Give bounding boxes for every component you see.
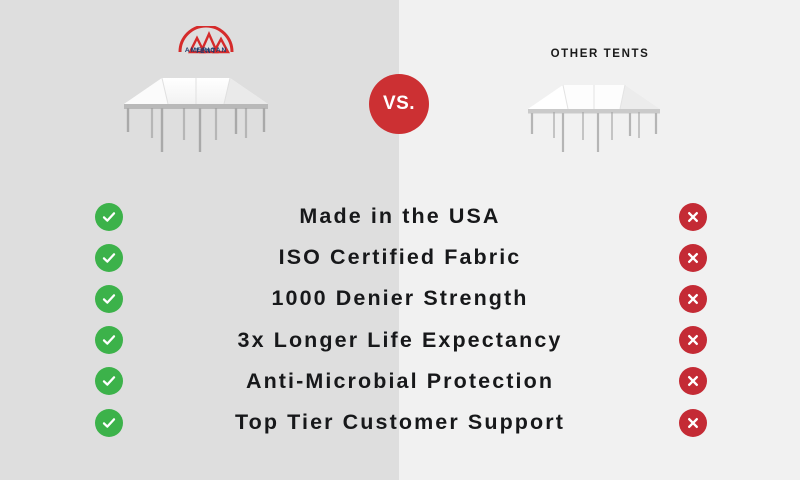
comparison-row-label: Made in the USA bbox=[140, 204, 660, 229]
check-circle-icon bbox=[95, 367, 123, 395]
comparison-row: Made in the USA bbox=[0, 196, 800, 237]
x-circle-icon bbox=[679, 409, 707, 437]
comparison-row: 3x Longer Life Expectancy bbox=[0, 320, 800, 361]
comparison-row: 1000 Denier Strength bbox=[0, 278, 800, 319]
check-circle-icon bbox=[95, 203, 123, 231]
comparison-row: Anti-Microbial Protection bbox=[0, 361, 800, 402]
x-circle-icon bbox=[679, 285, 707, 313]
x-circle-icon bbox=[679, 326, 707, 354]
comparison-row-label: ISO Certified Fabric bbox=[140, 245, 660, 270]
x-circle-icon bbox=[679, 203, 707, 231]
comparison-row-label: 1000 Denier Strength bbox=[140, 286, 660, 311]
comparison-row-label: 3x Longer Life Expectancy bbox=[140, 328, 660, 353]
comparison-row-label: Anti-Microbial Protection bbox=[140, 369, 660, 394]
check-circle-icon bbox=[95, 409, 123, 437]
comparison-infographic: AMERICAN TENT OTHER TENTS VS. Made in bbox=[0, 0, 800, 480]
comparison-row: Top Tier Customer Support bbox=[0, 402, 800, 443]
versus-badge: VS. bbox=[369, 74, 429, 134]
other-tents-label: OTHER TENTS bbox=[500, 48, 700, 60]
other-tent-illustration bbox=[518, 70, 670, 154]
american-tent-logo: AMERICAN TENT bbox=[168, 26, 244, 70]
check-circle-icon bbox=[95, 326, 123, 354]
check-circle-icon bbox=[95, 244, 123, 272]
american-tent-illustration bbox=[112, 60, 280, 155]
comparison-row-label: Top Tier Customer Support bbox=[140, 410, 660, 435]
comparison-row: ISO Certified Fabric bbox=[0, 237, 800, 278]
check-circle-icon bbox=[95, 285, 123, 313]
x-circle-icon bbox=[679, 244, 707, 272]
comparison-rows: Made in the USAISO Certified Fabric1000 … bbox=[0, 196, 800, 443]
x-circle-icon bbox=[679, 367, 707, 395]
